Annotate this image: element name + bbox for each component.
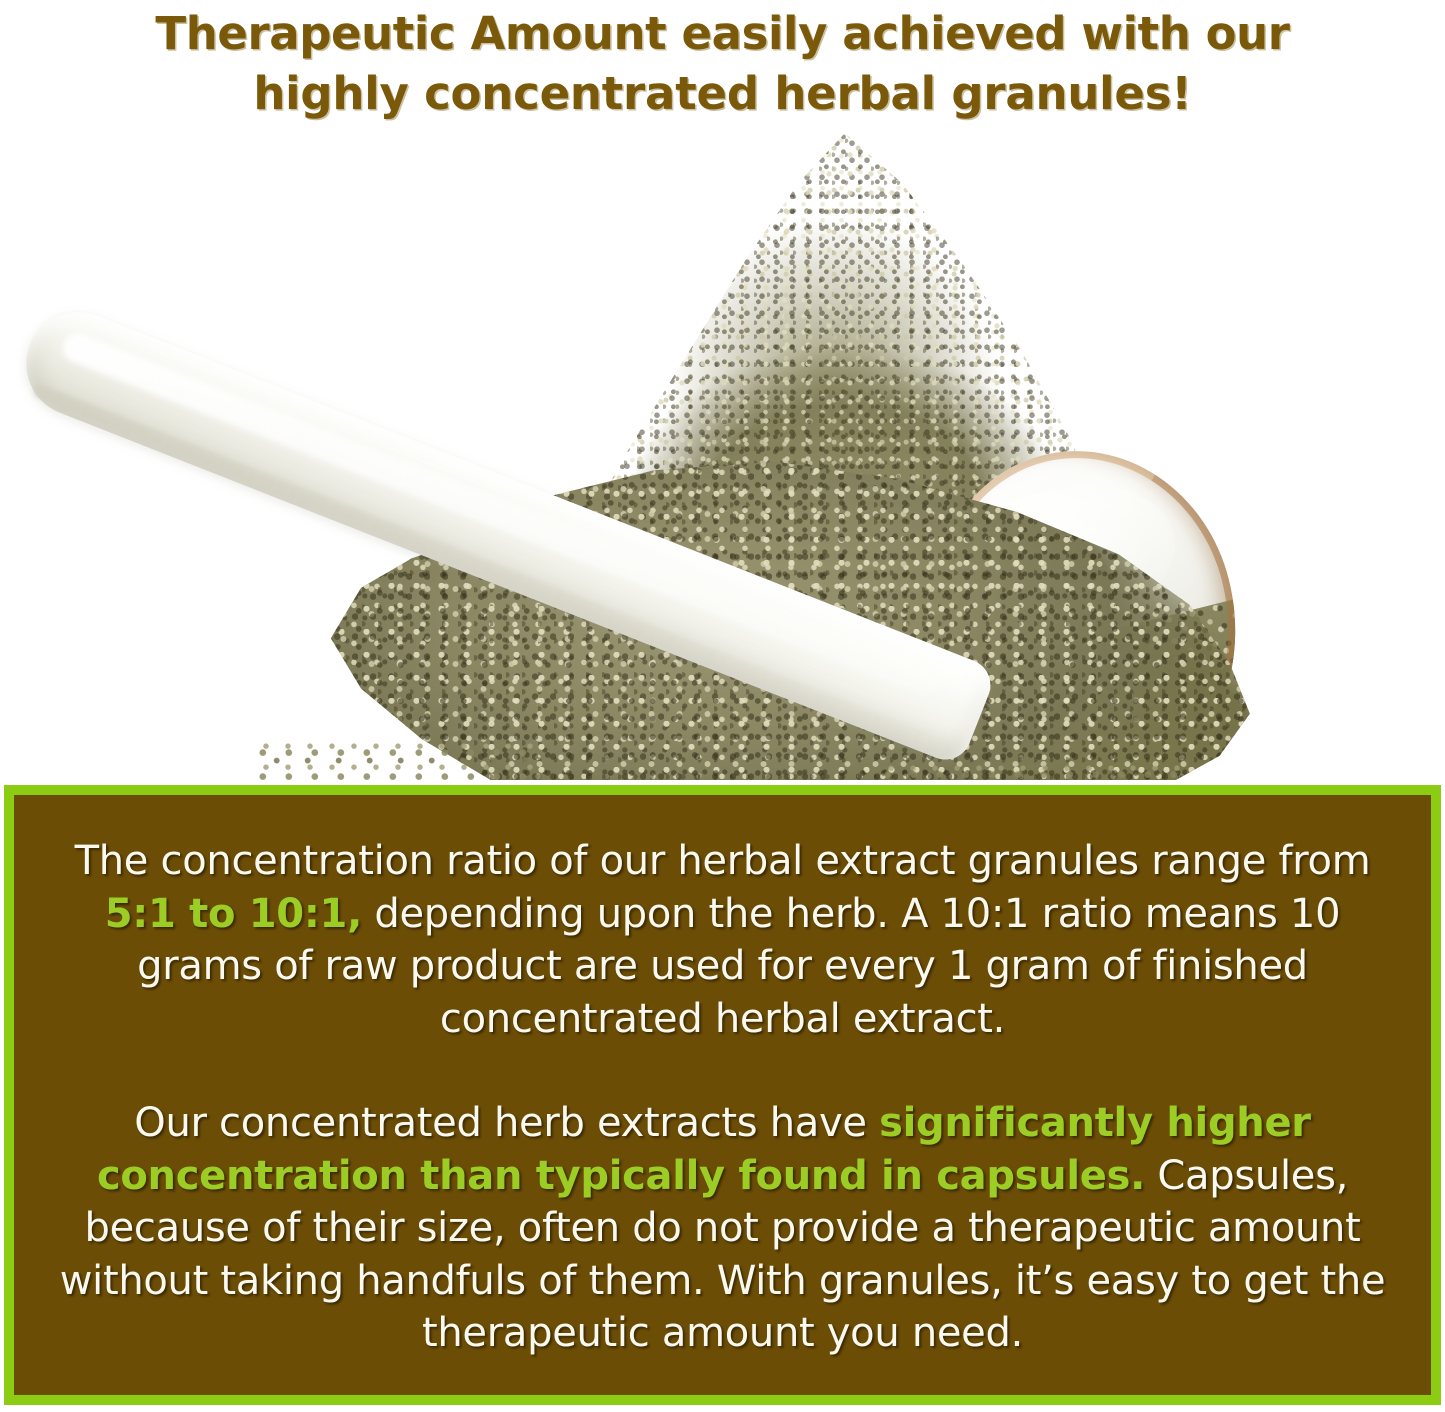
scattered-granules: [880, 765, 1180, 780]
headline-line-1: Therapeutic Amount easily achieved with …: [0, 4, 1445, 64]
paragraph-concentration-ratio: The concentration ratio of our herbal ex…: [48, 835, 1397, 1045]
product-photo: [0, 125, 1445, 780]
scattered-granules: [255, 743, 535, 780]
headline-block: Therapeutic Amount easily achieved with …: [0, 0, 1445, 125]
paragraph1-highlight: 5:1 to 10:1,: [105, 891, 362, 937]
paragraph-capsule-comparison: Our concentrated herb extracts have sign…: [48, 1097, 1397, 1360]
info-panel: The concentration ratio of our herbal ex…: [4, 785, 1441, 1405]
headline-line-2: highly concentrated herbal granules!: [0, 64, 1445, 124]
paragraph2-segment1: Our concentrated herb extracts have: [134, 1100, 879, 1146]
photo-stage: [0, 125, 1445, 780]
paragraph1-segment1: The concentration ratio of our herbal ex…: [75, 838, 1371, 884]
